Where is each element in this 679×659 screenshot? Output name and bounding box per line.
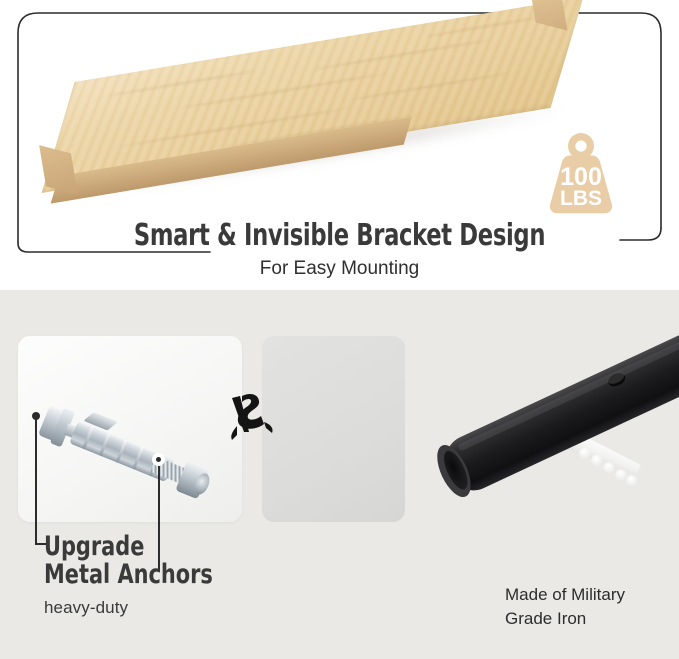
iron-rod-text-line-1: Made of Military (505, 583, 679, 607)
weight-icon: 100 LBS (534, 127, 628, 217)
page-subtitle: For Easy Mounting (0, 257, 679, 281)
weight-unit: LBS (560, 187, 602, 210)
metal-anchor-title-line-1: Upgrade (44, 533, 302, 561)
metal-anchor-title-line-2: Metal Anchors (44, 561, 302, 589)
title-row: Smart & Invisible Bracket Design (0, 219, 679, 255)
iron-rod-image (394, 290, 679, 568)
weight-capacity-badge: 100 LBS (534, 127, 628, 217)
top-section: 100 LBS Smart & Invisible Bracket Design… (0, 0, 679, 290)
iron-rod-text-line-2: Grade Iron (505, 607, 679, 631)
metal-anchor-subtitle: heavy-duty (44, 598, 344, 618)
shelf-product-image (40, 10, 600, 220)
iron-rod-callout-ring (152, 453, 165, 466)
metal-anchor-callout-line-vertical (35, 416, 37, 544)
metal-anchor-card (18, 336, 242, 522)
metal-anchor-image (37, 401, 211, 503)
metal-anchor-callout-label: Upgrade Metal Anchors heavy-duty (44, 533, 344, 618)
versus-icon: VS (228, 388, 288, 448)
page-title: Smart & Invisible Bracket Design (54, 219, 624, 253)
infographic-page: 100 LBS Smart & Invisible Bracket Design… (0, 0, 679, 659)
iron-rod-callout-label: Made of Military Grade Iron (505, 583, 679, 631)
